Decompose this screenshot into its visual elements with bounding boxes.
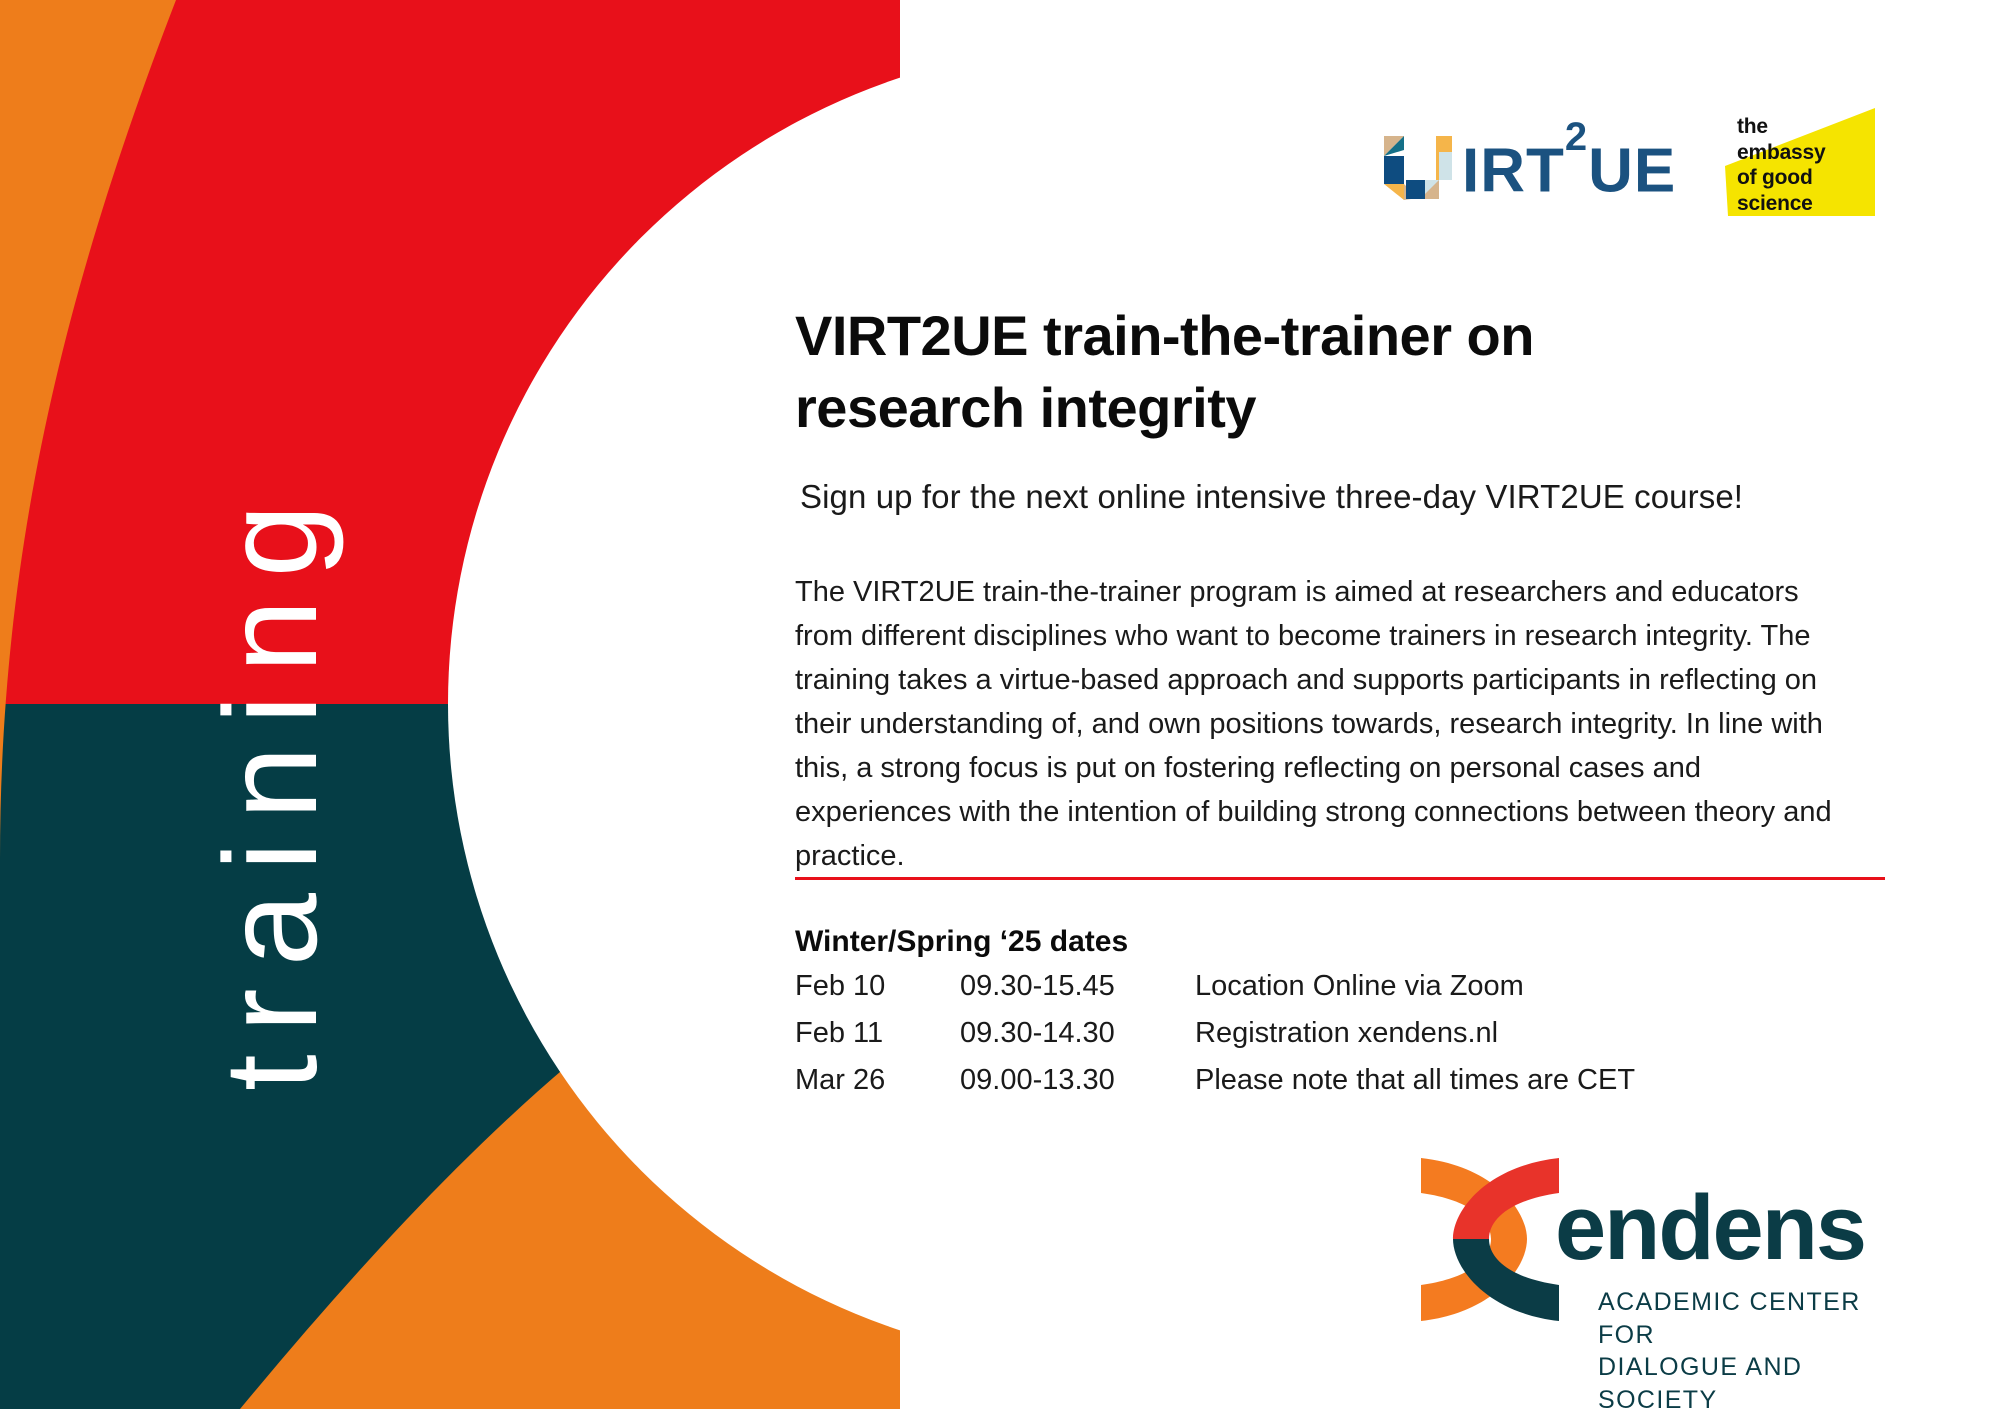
dates-table: Feb 10 09.30-15.45 Location Online via Z… [795,972,1885,1113]
subtitle: Sign up for the next online intensive th… [800,478,1860,516]
xendens-tagline-line-2: DIALOGUE AND SOCIETY [1598,1351,1885,1409]
xendens-wordmark: endens [1555,1182,1865,1274]
time-cell: 09.00-13.30 [960,1066,1195,1113]
info-cell: Registration xendens.nl [1195,1019,1885,1066]
xendens-x-mark-icon [1415,1152,1565,1327]
table-row: Feb 11 09.30-14.30 Registration xendens.… [795,1019,1885,1066]
page-title-line-1: VIRT2UE train-the-trainer on [795,300,1795,372]
date-cell: Feb 10 [795,972,960,1019]
page-title: VIRT2UE train-the-trainer on research in… [795,300,1795,443]
time-cell: 09.30-14.30 [960,1019,1195,1066]
time-cell: 09.30-15.45 [960,972,1195,1019]
date-cell: Feb 11 [795,1019,960,1066]
xendens-logo: endens ACADEMIC CENTER FOR DIALOGUE AND … [1415,1152,1885,1342]
left-decorative-artwork: training [0,0,900,1409]
date-cell: Mar 26 [795,1066,960,1113]
red-divider [795,877,1885,880]
dates-heading: Winter/Spring ‘25 dates [795,925,1128,959]
page-title-line-2: research integrity [795,372,1795,444]
table-row: Feb 10 09.30-15.45 Location Online via Z… [795,972,1885,1019]
xendens-tagline: ACADEMIC CENTER FOR DIALOGUE AND SOCIETY [1598,1286,1885,1409]
poster: training IRT2UE [0,0,2000,1409]
info-cell: Please note that all times are CET [1195,1066,1885,1113]
table-row: Mar 26 09.00-13.30 Please note that all … [795,1066,1885,1113]
info-cell: Location Online via Zoom [1195,972,1885,1019]
xendens-tagline-line-1: ACADEMIC CENTER FOR [1598,1286,1885,1351]
body-paragraph: The VIRT2UE train-the-trainer program is… [795,570,1855,879]
